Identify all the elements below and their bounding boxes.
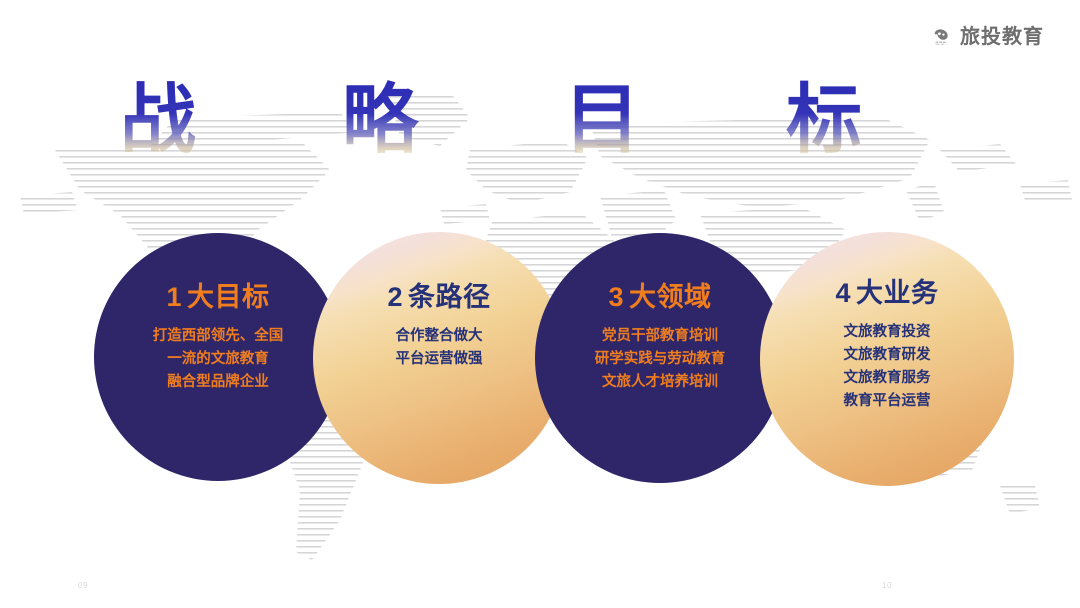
circle-4-heading-label: 大业务 [856,278,939,308]
circle-1-line-3: 融合型品牌企业 [153,371,284,394]
circle-2-line-1: 合作整合做大 [396,325,483,348]
circle-2-body: 合作整合做大 平台运营做强 [396,325,483,371]
title-char-1: 战 [120,78,196,158]
stat-circle-2[interactable]: 2条路径 合作整合做大 平台运营做强 [313,232,565,484]
circle-4-line-2: 文旅教育研发 [844,344,931,367]
slide-canvas: 旅投教育 战 略 目 标 1大目标 [0,0,1080,608]
circle-3-number: 3 [608,282,624,312]
circle-3-heading: 3大领域 [608,284,711,311]
circle-4-line-1: 文旅教育投资 [844,321,931,344]
circle-1-line-1: 打造西部领先、全国 [153,325,284,348]
circle-1-number: 1 [166,282,182,312]
stat-circle-1[interactable]: 1大目标 打造西部领先、全国 一流的文旅教育 融合型品牌企业 [94,233,342,481]
circle-1-heading-label: 大目标 [187,282,270,312]
stat-circle-3[interactable]: 3大领域 党员干部教育培训 研学实践与劳动教育 文旅人才培养培训 [535,233,785,483]
circle-2-heading: 2条路径 [387,284,490,311]
circle-4-heading: 4大业务 [835,280,938,307]
circle-4-line-4: 教育平台运营 [844,390,931,413]
brand-logo: 旅投教育 [931,26,1044,48]
circle-3-line-3: 文旅人才培养培训 [595,371,726,394]
circle-3-line-2: 研学实践与劳动教育 [595,348,726,371]
page-title: 战 略 目 标 [0,78,1080,158]
logo-wordmark: 旅投教育 [960,27,1044,47]
title-char-2: 略 [342,78,420,158]
circle-2-heading-label: 条路径 [408,282,491,312]
circle-1-body: 打造西部领先、全国 一流的文旅教育 融合型品牌企业 [153,325,284,394]
page-number-left: 09 [78,581,88,590]
circle-4-number: 4 [835,278,851,308]
title-char-4: 标 [786,78,862,158]
page-number-right: 10 [882,581,892,590]
circle-2-number: 2 [387,282,403,312]
circle-4-line-3: 文旅教育服务 [844,367,931,390]
circle-3-heading-label: 大领域 [629,282,712,312]
stat-circle-4[interactable]: 4大业务 文旅教育投资 文旅教育研发 文旅教育服务 教育平台运营 [760,232,1014,486]
circle-3-line-1: 党员干部教育培训 [595,325,726,348]
panda-leaf-logo-icon [931,26,953,48]
circle-3-body: 党员干部教育培训 研学实践与劳动教育 文旅人才培养培训 [595,325,726,394]
title-char-3: 目 [564,78,640,158]
circle-1-line-2: 一流的文旅教育 [153,348,284,371]
circle-4-body: 文旅教育投资 文旅教育研发 文旅教育服务 教育平台运营 [844,321,931,413]
circle-2-line-2: 平台运营做强 [396,348,483,371]
circle-1-heading: 1大目标 [166,284,269,311]
